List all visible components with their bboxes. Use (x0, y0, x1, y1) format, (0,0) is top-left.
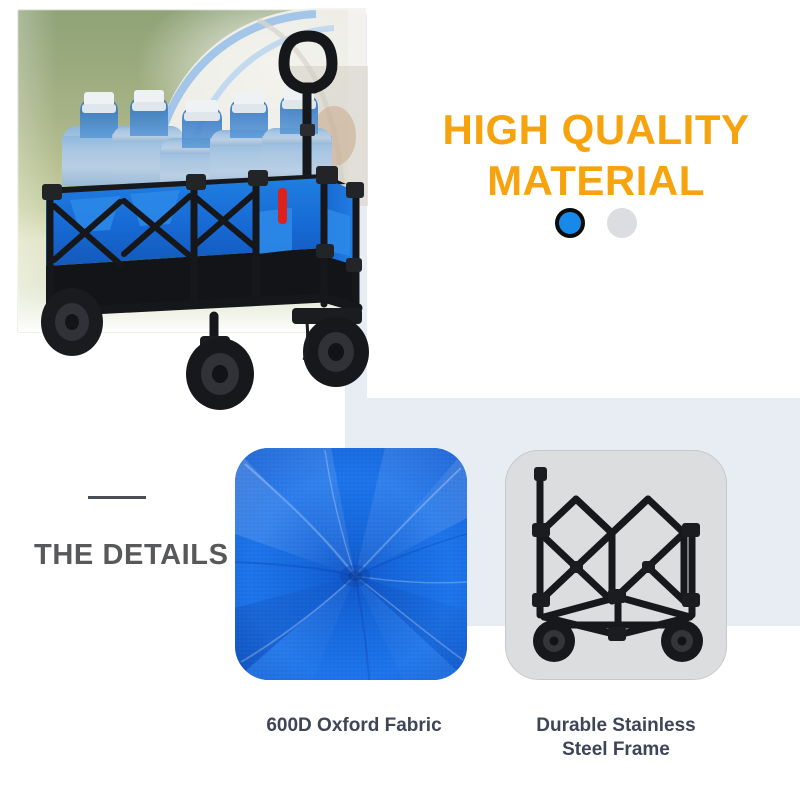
frame-caption-line-1: Durable Stainless (536, 715, 695, 736)
wagon-illustration (24, 16, 364, 410)
divider-rule (88, 496, 146, 499)
fabric-swatch-icon (235, 448, 467, 680)
details-title: THE DETAILS (34, 539, 229, 572)
folded-steel-frame-icon (514, 465, 720, 665)
fabric-card-caption: 600D Oxford Fabric (235, 714, 473, 738)
color-swatch-light-gray[interactable] (607, 208, 637, 238)
headline-line-2: MATERIAL (400, 155, 792, 206)
headline-line-1: HIGH QUALITY (400, 104, 792, 155)
color-swatch-blue[interactable] (555, 208, 585, 238)
frame-detail-card[interactable] (505, 450, 727, 680)
page-title: HIGH QUALITY MATERIAL (400, 104, 792, 206)
frame-card-caption: Durable Stainless Steel Frame (500, 714, 732, 762)
color-swatch-group (400, 208, 792, 238)
fabric-detail-card[interactable] (235, 448, 467, 680)
hero-product-photo (18, 10, 363, 410)
product-feature-page: HIGH QUALITY MATERIAL THE DETAILS (0, 0, 800, 800)
fabric-caption-text: 600D Oxford Fabric (266, 715, 441, 736)
frame-caption-line-2: Steel Frame (562, 739, 670, 760)
details-section-header: THE DETAILS (34, 496, 229, 572)
